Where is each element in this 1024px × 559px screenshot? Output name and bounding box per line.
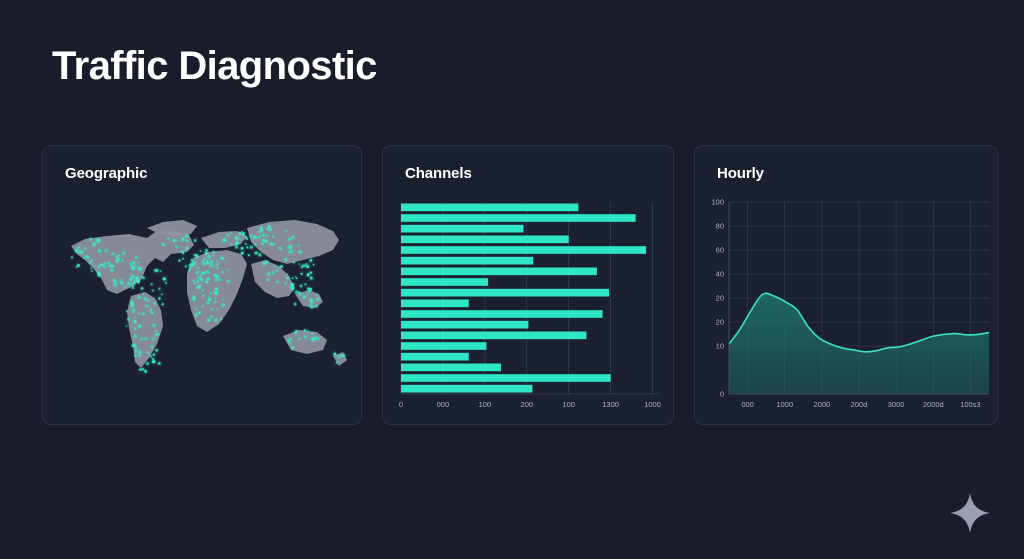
map-dot: [193, 279, 195, 281]
map-dot: [189, 264, 192, 267]
map-dot: [134, 277, 136, 279]
map-dot: [223, 238, 226, 241]
map-dot: [274, 265, 276, 267]
map-dot: [214, 274, 216, 276]
map-dot: [133, 320, 136, 323]
map-dot: [276, 281, 278, 283]
map-dot: [188, 269, 190, 271]
x-tick-label: 100: [562, 400, 575, 409]
map-dot: [150, 355, 152, 357]
map-dot: [135, 355, 137, 357]
x-tick-label: 3000: [888, 400, 905, 409]
bar: [401, 374, 611, 382]
map-dot: [302, 295, 305, 298]
map-dot: [145, 305, 147, 307]
map-dot: [235, 236, 238, 239]
map-dot: [309, 304, 311, 306]
map-dot: [222, 257, 225, 260]
map-dot: [138, 325, 141, 328]
y-tick-label: 0: [720, 390, 724, 399]
map-dot: [182, 252, 184, 254]
map-dot: [304, 283, 306, 285]
map-dot: [193, 254, 195, 256]
map-dot: [215, 288, 218, 291]
map-dot: [130, 278, 133, 281]
map-dot: [316, 305, 318, 307]
map-dot: [151, 283, 153, 285]
map-dot: [219, 279, 221, 281]
y-tick-label: 20: [716, 318, 724, 327]
map-dot: [221, 319, 223, 321]
map-dot: [210, 316, 212, 318]
map-dot: [255, 251, 258, 254]
x-tick-label: 1300: [602, 400, 619, 409]
bar: [401, 267, 597, 275]
map-dot: [317, 298, 320, 301]
x-tick-label: 2000: [814, 400, 831, 409]
map-dot: [288, 238, 291, 241]
map-dot: [311, 333, 313, 335]
map-dot: [155, 349, 158, 352]
map-dot: [116, 260, 118, 262]
map-dot: [254, 237, 256, 239]
map-dot: [194, 239, 197, 242]
map-dot: [221, 271, 223, 273]
map-dot: [300, 294, 302, 296]
map-dot: [203, 263, 206, 266]
map-dot: [207, 302, 210, 305]
map-dot: [295, 276, 297, 278]
map-dot: [220, 257, 222, 259]
bar: [401, 257, 533, 265]
map-dot: [308, 290, 311, 293]
map-dot: [236, 242, 239, 245]
map-dot: [265, 240, 268, 243]
map-dot: [89, 262, 91, 264]
map-dot: [182, 237, 185, 240]
map-dot: [152, 358, 155, 361]
map-dot: [242, 232, 245, 235]
x-tick-label: 0: [399, 400, 403, 409]
map-dot: [194, 262, 196, 264]
map-dot: [214, 291, 217, 294]
map-dot: [212, 251, 215, 254]
map-dot: [98, 266, 101, 269]
map-dot: [139, 267, 142, 270]
bar: [401, 246, 646, 254]
map-dot: [132, 263, 134, 265]
map-dot: [144, 297, 146, 299]
map-dot: [195, 313, 197, 315]
map-dot: [230, 243, 232, 245]
map-dot: [112, 265, 115, 268]
map-dot: [271, 243, 273, 245]
map-dot: [152, 360, 155, 363]
y-tick-label: 100: [711, 198, 724, 207]
map-dot: [141, 276, 143, 278]
panel-title-geographic: Geographic: [65, 165, 147, 182]
map-dot: [246, 238, 248, 240]
map-dot: [93, 243, 96, 246]
map-dot: [142, 293, 144, 295]
map-dot: [298, 245, 300, 247]
map-dot: [291, 283, 294, 286]
page-title: Traffic Diagnostic: [52, 44, 377, 88]
map-dot: [158, 297, 161, 300]
map-dot: [287, 246, 289, 248]
map-dot: [266, 235, 268, 237]
map-dot: [144, 370, 147, 373]
map-dot: [77, 264, 80, 267]
x-tick-label: 000: [741, 400, 754, 409]
map-dot: [210, 293, 212, 295]
x-tick-label: 100: [479, 400, 492, 409]
map-dot: [126, 310, 128, 312]
map-dot: [153, 353, 155, 355]
panel-geographic[interactable]: Geographic: [42, 145, 362, 425]
map-dot: [78, 247, 80, 249]
map-dot: [121, 278, 123, 280]
map-dot: [134, 335, 137, 338]
map-dot: [291, 236, 294, 239]
map-dot: [105, 249, 108, 252]
sparkle-icon: [948, 491, 992, 535]
x-tick-label: 000: [437, 400, 450, 409]
map-dot: [285, 282, 287, 284]
map-dot: [78, 251, 80, 253]
map-dot: [132, 302, 134, 304]
map-dot: [254, 243, 256, 245]
map-dot: [207, 277, 210, 280]
map-dot: [300, 285, 303, 288]
map-dot: [239, 232, 242, 235]
map-dot: [262, 234, 265, 237]
map-dot: [130, 284, 132, 286]
map-dot: [309, 259, 312, 262]
x-tick-label: 200d: [851, 400, 868, 409]
map-dot: [272, 235, 274, 237]
map-dot: [261, 243, 264, 246]
bar: [401, 299, 469, 307]
map-dot: [186, 240, 188, 242]
map-dot: [207, 255, 210, 258]
map-dot: [279, 266, 281, 268]
bar: [401, 342, 486, 350]
map-dot: [207, 271, 209, 273]
map-dot: [185, 247, 188, 250]
map-dot: [209, 262, 212, 265]
map-dot: [307, 274, 310, 277]
map-dot: [222, 304, 225, 307]
map-dot: [110, 269, 113, 272]
map-dot: [86, 256, 89, 259]
map-dot: [211, 260, 213, 262]
map-dot: [208, 298, 211, 301]
map-dot: [245, 243, 247, 245]
map-dot: [235, 245, 238, 248]
map-dot: [197, 277, 199, 279]
dashboard-root: Traffic Diagnostic Geographic: [0, 0, 1024, 559]
map-dot: [191, 259, 193, 261]
map-dot: [310, 271, 313, 274]
map-dot: [195, 315, 197, 317]
x-tick-label: 200: [521, 400, 534, 409]
bar: [401, 225, 524, 233]
map-dot: [189, 266, 191, 268]
map-dot: [317, 338, 320, 341]
map-dot: [200, 250, 202, 252]
map-dot: [310, 299, 313, 302]
map-dot: [227, 269, 229, 271]
map-dot: [124, 286, 126, 288]
map-dot: [161, 293, 163, 295]
map-dot: [193, 296, 196, 299]
map-dot: [272, 271, 275, 274]
map-dot: [215, 279, 218, 282]
map-dot: [268, 225, 270, 227]
map-dot: [111, 252, 114, 255]
map-dot: [84, 248, 86, 250]
y-tick-label: 20: [716, 294, 724, 303]
bar: [401, 235, 569, 243]
map-dot: [92, 265, 94, 267]
map-dot: [226, 233, 228, 235]
map-dot: [181, 251, 183, 253]
map-dot: [250, 235, 252, 237]
map-dot: [158, 288, 160, 290]
map-dot: [127, 318, 130, 321]
map-dot: [152, 339, 154, 341]
map-dot: [206, 281, 209, 284]
map-dot: [155, 333, 158, 336]
map-dot: [206, 259, 208, 261]
map-dot: [100, 263, 103, 266]
map-dot: [146, 352, 148, 354]
map-dot: [290, 250, 292, 252]
map-dot: [307, 293, 309, 295]
map-dot: [175, 239, 177, 241]
bar: [401, 278, 488, 286]
map-dot: [138, 262, 140, 264]
map-dot: [279, 247, 282, 250]
map-dot: [105, 266, 107, 268]
map-dot: [141, 338, 143, 340]
map-dot: [141, 287, 144, 290]
map-dot: [203, 258, 205, 260]
bar: [401, 310, 603, 318]
map-dot: [258, 236, 260, 238]
map-dot: [205, 252, 208, 255]
map-dot: [109, 265, 112, 268]
map-dot: [336, 362, 338, 364]
y-tick-label: 40: [716, 270, 724, 279]
map-dot: [126, 325, 128, 327]
map-dot: [150, 346, 153, 349]
map-dot: [152, 312, 154, 314]
map-dot: [298, 292, 300, 294]
map-dot: [144, 338, 146, 340]
map-dot: [129, 263, 131, 265]
map-dot: [291, 346, 294, 349]
map-dot: [71, 256, 73, 258]
map-dot: [134, 345, 137, 348]
bar: [401, 353, 469, 361]
map-dot: [135, 350, 137, 352]
map-dot: [215, 319, 218, 322]
map-dot: [197, 280, 199, 282]
map-dot: [136, 277, 138, 279]
map-dot: [135, 265, 137, 267]
map-dot: [263, 262, 266, 265]
map-dot: [200, 274, 202, 276]
map-dot: [155, 330, 157, 332]
map-dot: [258, 253, 261, 256]
map-dot: [305, 263, 307, 265]
map-dot: [162, 243, 165, 246]
map-dot: [103, 265, 105, 267]
map-dot: [206, 262, 208, 264]
bar-chart[interactable]: 000010020010013001000: [383, 192, 674, 424]
bar: [401, 203, 578, 211]
map-dot: [287, 273, 289, 275]
map-dot: [129, 286, 131, 288]
map-dot: [307, 287, 309, 289]
map-dot: [267, 228, 269, 230]
map-dot: [217, 308, 219, 310]
map-dot: [146, 362, 149, 365]
map-dot: [137, 280, 140, 283]
map-dot: [290, 338, 292, 340]
map-dot: [138, 296, 141, 299]
map-dot: [250, 246, 253, 249]
map-dot: [216, 265, 218, 267]
map-dot: [210, 265, 212, 267]
x-tick-label: 1000: [644, 400, 661, 409]
panel-container: Geographic Channels 00001002001: [42, 145, 998, 425]
map-dot: [306, 265, 309, 268]
world-map-chart[interactable]: [51, 198, 355, 413]
map-dot: [132, 287, 134, 289]
map-dot: [107, 262, 109, 264]
map-dot: [301, 273, 303, 275]
map-dot: [175, 245, 177, 247]
map-dot: [248, 254, 250, 256]
map-dot: [158, 362, 161, 365]
map-dot: [255, 237, 257, 239]
panel-channels[interactable]: Channels 000010020010013001000: [382, 145, 674, 425]
map-dot: [195, 255, 198, 258]
map-dot: [294, 303, 297, 306]
map-dot: [116, 255, 119, 258]
map-dot: [178, 259, 180, 261]
map-dot: [309, 298, 311, 300]
map-dot: [132, 309, 135, 312]
map-dot: [239, 238, 241, 240]
map-dot: [289, 245, 292, 248]
map-dot: [287, 277, 289, 279]
map-dot: [212, 265, 214, 267]
map-dot: [185, 265, 187, 267]
map-dot: [314, 336, 317, 339]
bar: [401, 289, 609, 297]
map-dot: [158, 333, 160, 335]
map-dot: [299, 251, 302, 254]
map-dot: [260, 226, 263, 229]
map-dot: [131, 304, 134, 307]
map-dot: [202, 295, 204, 297]
map-dot: [201, 279, 204, 282]
map-dot: [285, 230, 287, 232]
map-dot: [296, 278, 298, 280]
map-dot: [290, 286, 292, 288]
map-dot: [76, 266, 78, 268]
x-tick-label: 2000d: [923, 400, 944, 409]
map-dot: [142, 312, 145, 315]
map-dot: [313, 264, 315, 266]
map-dot: [202, 272, 205, 275]
map-dot: [119, 254, 121, 256]
map-dot: [341, 355, 343, 357]
map-dot: [259, 230, 262, 233]
map-dot: [162, 303, 164, 305]
map-dot: [127, 282, 130, 285]
map-dot: [146, 300, 148, 302]
map-dot: [163, 277, 166, 280]
map-dot: [97, 239, 100, 242]
map-dot: [195, 308, 197, 310]
map-dot: [194, 299, 196, 301]
map-dot: [298, 338, 300, 340]
map-dot: [133, 282, 135, 284]
x-tick-label: 100s3: [960, 400, 980, 409]
map-dot: [214, 301, 216, 303]
map-dot: [165, 282, 167, 284]
bar: [401, 363, 501, 371]
map-dot: [269, 228, 272, 231]
map-dot: [202, 305, 204, 307]
map-dot: [292, 287, 294, 289]
map-dot: [154, 269, 157, 272]
map-dot: [194, 282, 196, 284]
map-dot: [75, 249, 78, 252]
panel-title-channels: Channels: [405, 165, 472, 182]
map-dot: [211, 308, 213, 310]
area-chart[interactable]: 100806040202010000010002000200d30002000d…: [695, 192, 998, 424]
map-dot: [138, 351, 141, 354]
map-dot: [152, 290, 154, 292]
map-dot: [246, 246, 248, 248]
map-dot: [304, 329, 306, 331]
map-dot: [198, 285, 201, 288]
map-dot: [292, 277, 294, 279]
map-dot: [120, 281, 123, 284]
map-dot: [202, 290, 204, 292]
map-dot: [288, 251, 290, 253]
map-dot: [141, 368, 144, 371]
map-dot: [131, 275, 134, 278]
map-dot: [307, 330, 309, 332]
panel-hourly[interactable]: Hourly 100806040202010000010002000200d30…: [694, 145, 998, 425]
y-tick-label: 10: [716, 342, 724, 351]
map-dot: [104, 263, 106, 265]
map-dot: [130, 300, 132, 302]
map-dot: [160, 270, 162, 272]
map-dot: [90, 267, 92, 269]
map-dot: [213, 255, 215, 257]
map-dot: [216, 261, 218, 263]
map-dot: [153, 324, 156, 327]
map-dot: [134, 327, 137, 330]
